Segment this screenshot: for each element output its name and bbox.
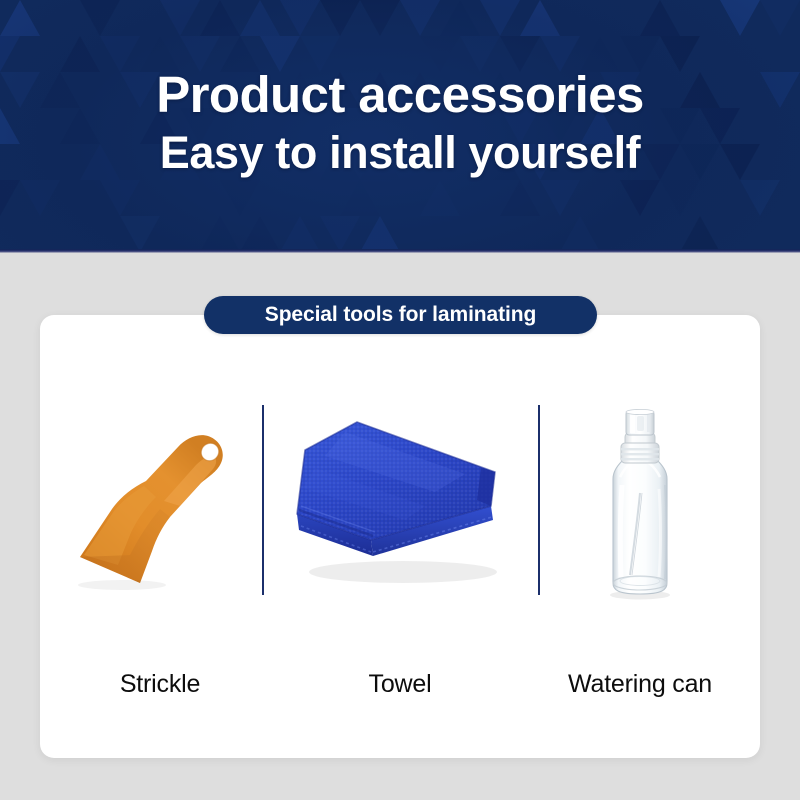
tool-label-strickle: Strickle (40, 670, 280, 699)
banner-bottom-edge (0, 249, 800, 253)
clear-spray-bottle-icon (580, 405, 700, 605)
page-subtitle: Easy to install yourself (160, 128, 641, 178)
tools-grid: Strickle (40, 315, 760, 758)
banner-text-block: Product accessories Easy to install your… (0, 0, 800, 253)
page-title: Product accessories (156, 68, 644, 122)
tool-item-watering-can[interactable]: Watering can (520, 315, 760, 758)
section-badge: Special tools for laminating (204, 296, 597, 334)
tool-item-strickle[interactable]: Strickle (40, 315, 280, 758)
tool-label-towel: Towel (280, 670, 520, 699)
header-banner: Product accessories Easy to install your… (0, 0, 800, 253)
watering-can-image (520, 390, 760, 620)
tool-label-watering-can: Watering can (520, 670, 760, 699)
strickle-image (40, 390, 280, 620)
tool-item-towel[interactable]: Towel (280, 315, 520, 758)
orange-scraper-icon (60, 405, 260, 605)
blue-microfiber-towel-icon (285, 410, 515, 600)
section-badge-label: Special tools for laminating (265, 303, 536, 327)
tool-divider-1 (262, 405, 264, 595)
towel-image (280, 390, 520, 620)
tool-divider-2 (538, 405, 540, 595)
